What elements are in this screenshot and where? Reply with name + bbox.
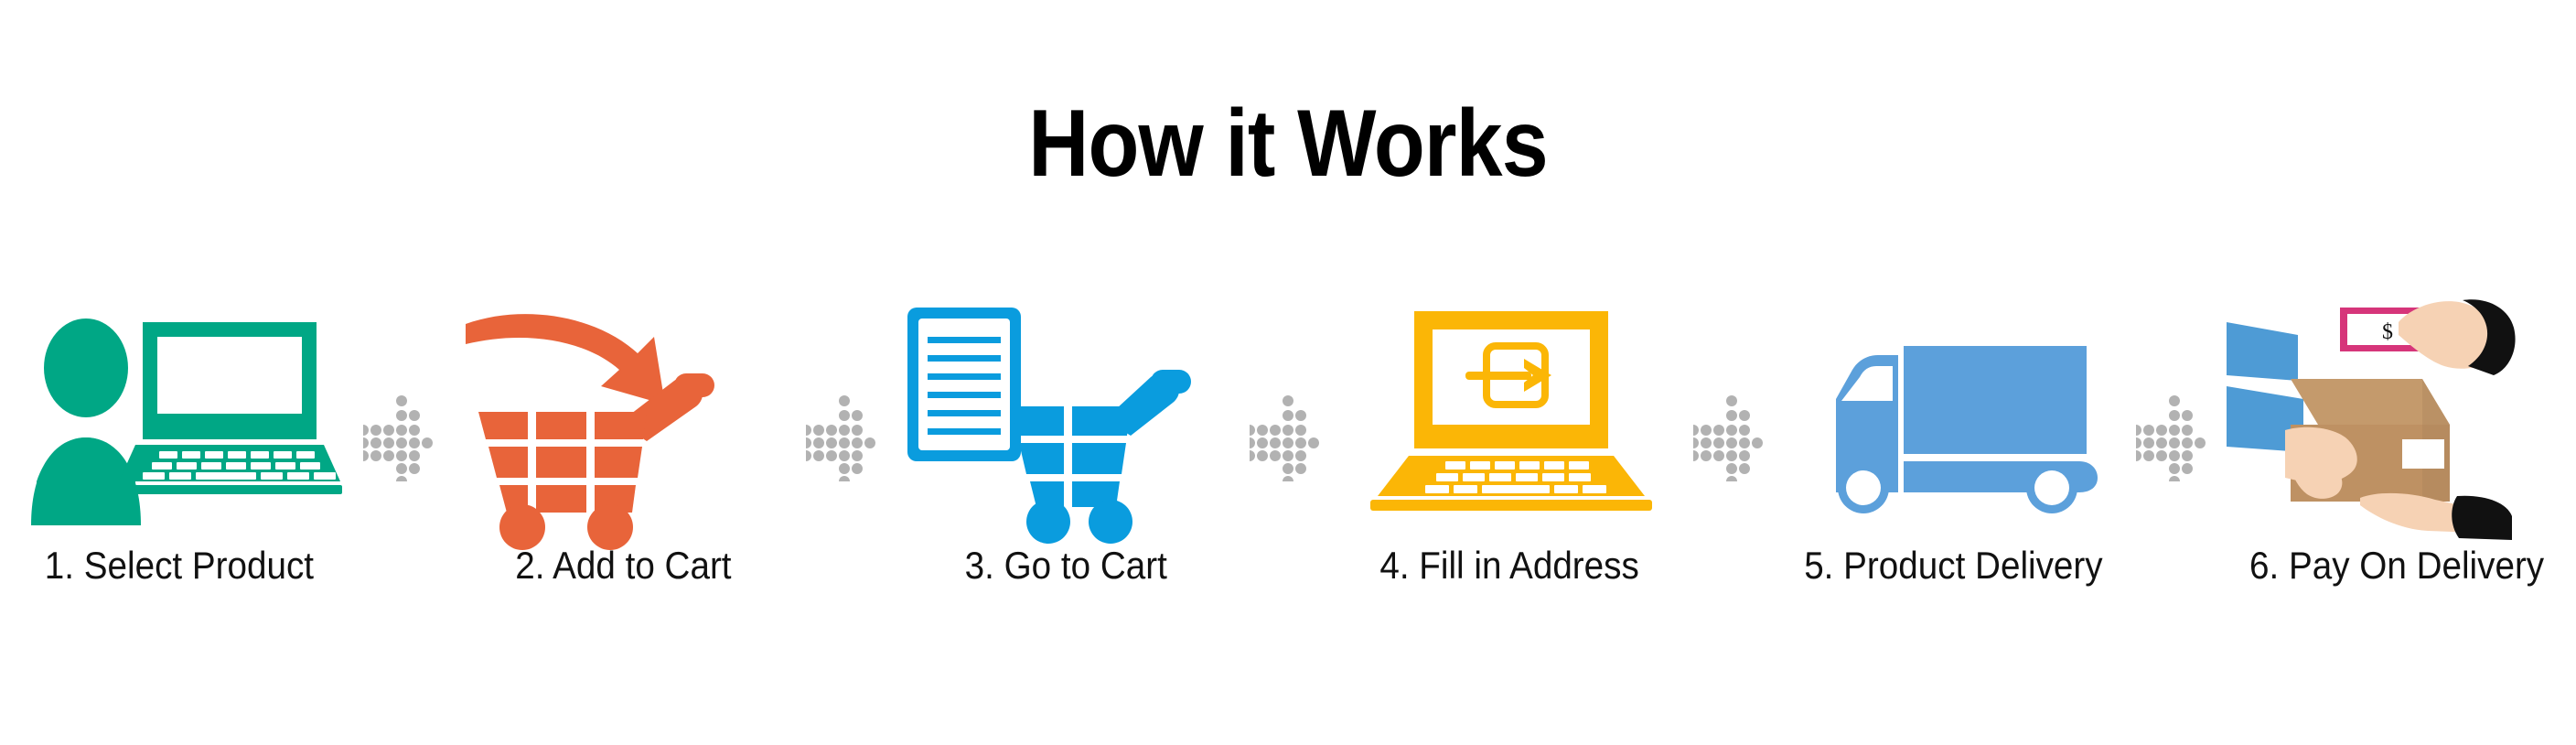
dotted-arrow-right-icon	[806, 394, 883, 481]
step-4-fill-in-address[interactable]: 4. Fill in Address	[1330, 302, 1690, 632]
step-4-label: 4. Fill in Address	[1380, 544, 1639, 588]
page-title: How it Works	[155, 96, 2421, 191]
separator-1	[360, 302, 444, 632]
dotted-arrow-right-icon	[363, 394, 440, 481]
step-6-pay-on-delivery[interactable]: $	[2216, 302, 2576, 632]
separator-4	[1690, 302, 1774, 632]
step-1-select-product[interactable]: 1. Select Product	[0, 302, 360, 632]
separator-2	[802, 302, 886, 632]
shopping-cart-with-arrow-icon	[458, 302, 788, 531]
dotted-arrow-right-icon	[1693, 394, 1770, 481]
step-2-label: 2. Add to Cart	[515, 544, 731, 588]
steps-row: 1. Select Product	[0, 302, 2576, 632]
delivery-truck-icon	[1788, 302, 2118, 531]
dotted-arrow-right-icon	[1250, 394, 1326, 481]
separator-5	[2132, 302, 2216, 632]
step-3-label: 3. Go to Cart	[965, 544, 1167, 588]
infographic-root: How it Works	[0, 0, 2576, 745]
step-5-label: 5. Product Delivery	[1804, 544, 2102, 588]
upper-hand	[2399, 299, 2516, 375]
money-symbol: $	[2382, 320, 2393, 344]
step-5-product-delivery[interactable]: 5. Product Delivery	[1774, 302, 2133, 632]
step-2-add-to-cart[interactable]: 2. Add to Cart	[444, 302, 803, 632]
laptop-with-login-arrow-icon	[1345, 302, 1674, 531]
dotted-arrow-right-icon	[2136, 394, 2213, 481]
step-6-label: 6. Pay On Delivery	[2249, 544, 2544, 588]
separator-3	[1246, 302, 1330, 632]
step-1-label: 1. Select Product	[45, 544, 314, 588]
lower-hand	[2360, 493, 2512, 540]
document-with-cart-icon	[902, 302, 1231, 531]
hands-exchanging-box-and-money-icon: $	[2232, 302, 2561, 531]
step-3-go-to-cart[interactable]: 3. Go to Cart	[886, 302, 1246, 632]
person-with-laptop-icon	[15, 302, 344, 531]
